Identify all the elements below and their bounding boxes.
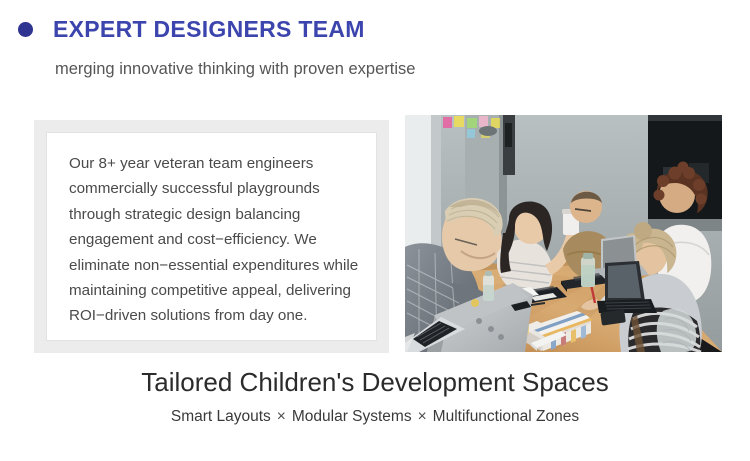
- text-card: Our 8+ year veteran team engineers comme…: [46, 132, 377, 341]
- bottom-block: Tailored Children's Development Spaces S…: [0, 366, 750, 427]
- tagline-separator-1: ×: [271, 408, 292, 425]
- body-paragraph: Our 8+ year veteran team engineers comme…: [69, 151, 361, 329]
- tagline-item-1: Smart Layouts: [171, 408, 271, 425]
- tagline: Smart Layouts×Modular Systems×Multifunct…: [0, 407, 750, 427]
- tagline-item-3: Multifunctional Zones: [433, 408, 579, 425]
- team-photo: [405, 115, 722, 352]
- page-title: EXPERT DESIGNERS TEAM: [53, 16, 365, 43]
- bullet-icon: [18, 22, 33, 37]
- tagline-item-2: Modular Systems: [292, 408, 412, 425]
- title-row: EXPERT DESIGNERS TEAM: [18, 16, 365, 43]
- tagline-separator-2: ×: [412, 408, 433, 425]
- slide-root: EXPERT DESIGNERS TEAM merging innovative…: [0, 0, 750, 461]
- headline: Tailored Children's Development Spaces: [0, 366, 750, 398]
- page-subtitle: merging innovative thinking with proven …: [55, 60, 415, 79]
- text-panel: Our 8+ year veteran team engineers comme…: [34, 120, 389, 353]
- team-photo-illustration: [405, 115, 722, 352]
